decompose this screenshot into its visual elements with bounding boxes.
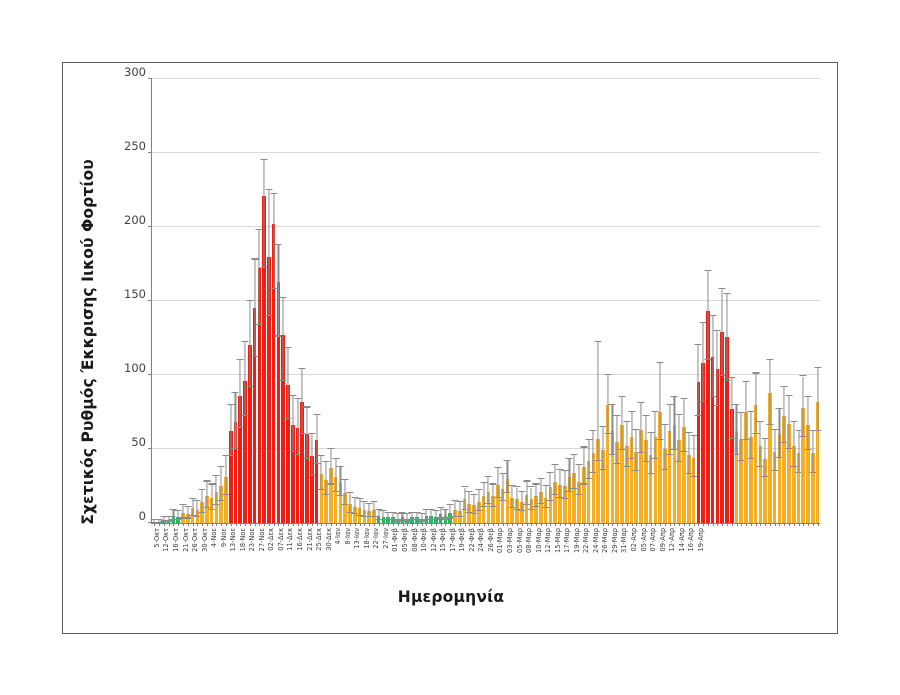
x-tick-mark (159, 523, 160, 526)
x-tick-mark (670, 523, 671, 526)
error-bar (636, 430, 637, 471)
x-tick-mark (550, 523, 551, 526)
error-bar (454, 501, 455, 517)
x-tick-mark (555, 523, 556, 526)
x-tick-mark (355, 523, 356, 526)
x-tick-mark (799, 523, 800, 526)
plot-area: 050100150200250300 5-Οκτ12-Οκτ16-Οκτ21-Ο… (151, 79, 820, 524)
x-tick-label: 30-Οκτ (201, 528, 209, 552)
error-bar (521, 492, 522, 511)
x-tick-mark (565, 523, 566, 526)
x-tick-mark (298, 523, 299, 526)
x-tick-mark (622, 523, 623, 526)
x-tick-label: 23-Νοε (248, 528, 256, 551)
x-tick-label: 26-Μαρ (601, 528, 609, 553)
x-tick-mark (531, 523, 532, 526)
x-tick-mark (612, 523, 613, 526)
error-bar (474, 495, 475, 514)
error-bar (555, 465, 556, 495)
error-bar (311, 434, 312, 475)
x-tick-mark (331, 523, 332, 526)
error-bar (803, 377, 804, 438)
x-tick-mark (441, 523, 442, 526)
x-tick-mark (465, 523, 466, 526)
x-tick-label: 07-Δεκ (277, 528, 285, 551)
x-tick-mark (469, 523, 470, 526)
error-bar (340, 467, 341, 497)
error-bar (712, 316, 713, 397)
x-tick-mark (231, 523, 232, 526)
error-bar (259, 230, 260, 325)
x-tick-mark (813, 523, 814, 526)
error-bar (774, 430, 775, 471)
x-tick-mark (412, 523, 413, 526)
x-tick-mark (818, 523, 819, 526)
error-bar (679, 415, 680, 462)
x-tick-mark (484, 523, 485, 526)
error-bar (192, 499, 193, 515)
x-tick-mark (765, 523, 766, 526)
x-tick-mark (741, 523, 742, 526)
x-tick-mark (379, 523, 380, 526)
x-tick-label: 12-Μαρ (544, 528, 552, 553)
x-tick-label: 05-Φεβ (401, 528, 409, 552)
x-tick-label: 05-Μαρ (516, 528, 524, 553)
error-bar (493, 485, 494, 507)
x-tick-mark (589, 523, 590, 526)
error-bar (268, 190, 269, 316)
x-tick-mark (240, 523, 241, 526)
y-tick-label: 200 (124, 213, 146, 227)
x-tick-mark (751, 523, 752, 526)
error-bar-cap (814, 367, 821, 368)
error-bar (674, 397, 675, 450)
error-bar (583, 448, 584, 485)
x-tick-mark (617, 523, 618, 526)
x-tick-label: 17-Μαρ (563, 528, 571, 553)
x-tick-mark (426, 523, 427, 526)
x-tick-label: 21-Οκτ (182, 528, 190, 552)
x-tick-mark (212, 523, 213, 526)
x-tick-mark (169, 523, 170, 526)
x-tick-mark (770, 523, 771, 526)
x-tick-mark (278, 523, 279, 526)
x-tick-mark (732, 523, 733, 526)
error-bar (703, 323, 704, 401)
x-tick-mark (312, 523, 313, 526)
x-tick-mark (283, 523, 284, 526)
x-tick-label: 18-Νοε (239, 528, 247, 551)
x-tick-mark (598, 523, 599, 526)
x-tick-mark (498, 523, 499, 526)
error-bar (621, 397, 622, 450)
x-tick-label: 5-Οκτ (153, 528, 161, 548)
error-bar (326, 462, 327, 495)
x-tick-mark (570, 523, 571, 526)
y-tick-label: 150 (124, 287, 146, 301)
x-tick-mark (393, 523, 394, 526)
x-tick-mark (512, 523, 513, 526)
x-tick-label: 27-Ιαν (382, 528, 390, 549)
x-tick-label: 29-Μαρ (611, 528, 619, 553)
x-tick-mark (507, 523, 508, 526)
x-tick-label: 19-Φεβ (458, 528, 466, 552)
x-tick-mark (274, 523, 275, 526)
x-tick-mark (789, 523, 790, 526)
error-bar (798, 431, 799, 472)
x-tick-mark (708, 523, 709, 526)
error-bar (278, 245, 279, 337)
x-tick-label: 21-Δεκ (306, 528, 314, 551)
error-bar (626, 422, 627, 466)
x-tick-label: 12-Φεβ (430, 528, 438, 552)
error-bar (373, 502, 374, 517)
x-tick-label: 25-Δεκ (315, 528, 323, 551)
x-tick-mark (255, 523, 256, 526)
x-tick-mark (245, 523, 246, 526)
error-bar (574, 455, 575, 489)
error-bar (765, 439, 766, 477)
error-bar (564, 471, 565, 499)
x-tick-label: 09-Απρ (659, 528, 667, 551)
x-tick-mark (737, 523, 738, 526)
x-tick-mark (302, 523, 303, 526)
x-tick-label: 31-Μαρ (620, 528, 628, 553)
error-bar (726, 294, 727, 381)
x-tick-mark (593, 523, 594, 526)
x-tick-label: 30-Δεκ (325, 528, 333, 551)
error-bar (469, 492, 470, 513)
error-bar (364, 502, 365, 517)
x-tick-mark (503, 523, 504, 526)
x-tick-mark (436, 523, 437, 526)
error-bar (502, 474, 503, 501)
error-bar (559, 470, 560, 498)
x-tick-label: 15-Μαρ (554, 528, 562, 553)
y-tick-label: 250 (124, 139, 146, 153)
x-tick-mark (808, 523, 809, 526)
error-bar (598, 342, 599, 460)
error-bar (750, 412, 751, 459)
x-tick-label: 22-Ιαν (372, 528, 380, 549)
x-tick-mark (388, 523, 389, 526)
error-bar (273, 194, 274, 289)
x-tick-mark (345, 523, 346, 526)
x-tick-mark (679, 523, 680, 526)
x-tick-mark (445, 523, 446, 526)
x-tick-label: 07-Απρ (649, 528, 657, 551)
x-tick-mark (450, 523, 451, 526)
error-bar (264, 160, 265, 268)
error-bar (688, 433, 689, 474)
error-bar (793, 422, 794, 466)
x-tick-mark (460, 523, 461, 526)
x-tick-label: 02-Δεκ (267, 528, 275, 551)
x-tick-mark (288, 523, 289, 526)
x-tick-mark (760, 523, 761, 526)
error-bar (641, 403, 642, 453)
x-tick-mark (794, 523, 795, 526)
error-bar-cap (814, 430, 821, 431)
x-tick-mark (713, 523, 714, 526)
x-tick-mark (717, 523, 718, 526)
error-bar (817, 368, 818, 432)
error-bar (769, 360, 770, 425)
x-tick-mark (474, 523, 475, 526)
x-tick-mark (746, 523, 747, 526)
x-tick-mark (560, 523, 561, 526)
x-tick-mark (756, 523, 757, 526)
error-bar (578, 465, 579, 495)
x-tick-label: 27-Νοε (258, 528, 266, 551)
bar-series (152, 79, 820, 523)
x-tick-label: 26-Οκτ (191, 528, 199, 552)
y-tick-label: 50 (131, 435, 146, 449)
x-tick-mark (665, 523, 666, 526)
x-tick-mark (183, 523, 184, 526)
error-bar (254, 260, 255, 358)
x-tick-mark (293, 523, 294, 526)
x-tick-mark (340, 523, 341, 526)
x-tick-label: 10-Φεβ (420, 528, 428, 552)
x-tick-label: 22-Μαρ (582, 528, 590, 553)
error-bar (459, 502, 460, 517)
x-tick-label: 11-Δεκ (286, 528, 294, 551)
x-tick-label: 16-Δεκ (296, 528, 304, 551)
x-tick-label: 17-Φεβ (449, 528, 457, 552)
x-tick-label: 08-Μαρ (525, 528, 533, 553)
error-bar (211, 485, 212, 510)
x-tick-label: 13-Ιαν (353, 528, 361, 549)
x-tick-mark (193, 523, 194, 526)
x-tick-mark (350, 523, 351, 526)
y-tick-label: 300 (124, 65, 146, 79)
x-tick-mark (541, 523, 542, 526)
x-tick-mark (632, 523, 633, 526)
x-tick-label: 05-Απρ (640, 528, 648, 551)
y-axis-title: Σχετικός Ρυθμός Έκκρισης Ιικού Φορτίου (79, 102, 97, 582)
x-tick-mark (364, 523, 365, 526)
x-tick-mark (608, 523, 609, 526)
error-bar (330, 449, 331, 485)
x-tick-mark (383, 523, 384, 526)
error-bar (683, 399, 684, 452)
error-bar (540, 479, 541, 504)
x-tick-mark (655, 523, 656, 526)
error-bar (664, 425, 665, 469)
error-bar (283, 298, 284, 381)
x-tick-mark (250, 523, 251, 526)
error-bar (225, 456, 226, 494)
x-axis-title: Ημερομηνία (63, 588, 839, 606)
x-tick-label: 9-Νοε (220, 528, 228, 547)
error-bar (722, 289, 723, 376)
x-tick-mark (236, 523, 237, 526)
x-tick-mark (722, 523, 723, 526)
x-tick-mark (488, 523, 489, 526)
error-bar (550, 473, 551, 501)
error-bar (655, 412, 656, 459)
y-tick-label: 100 (124, 361, 146, 375)
x-tick-mark (694, 523, 695, 526)
x-tick-mark (264, 523, 265, 526)
x-tick-mark (627, 523, 628, 526)
x-tick-mark (646, 523, 647, 526)
x-tick-label: 4-Ιαν (334, 528, 342, 545)
x-tick-label: 14-Απρ (678, 528, 686, 551)
error-bar (741, 413, 742, 460)
error-bar (202, 490, 203, 512)
x-tick-mark (307, 523, 308, 526)
x-tick-mark (493, 523, 494, 526)
x-tick-mark (603, 523, 604, 526)
x-tick-mark (784, 523, 785, 526)
x-tick-mark (221, 523, 222, 526)
x-tick-mark (216, 523, 217, 526)
error-bar (631, 412, 632, 459)
x-tick-mark (527, 523, 528, 526)
error-bar (812, 431, 813, 472)
error-bar (292, 396, 293, 452)
error-bar (316, 415, 317, 464)
x-tick-label: 13-Νοε (229, 528, 237, 551)
error-bar (808, 397, 809, 450)
error-bar (507, 461, 508, 494)
error-bar (755, 374, 756, 435)
x-tick-label: 16-Οκτ (172, 528, 180, 552)
x-tick-label: 24-Φεβ (477, 528, 485, 552)
x-tick-mark (326, 523, 327, 526)
bar-slot[interactable] (815, 79, 820, 523)
x-tick-mark (584, 523, 585, 526)
x-tick-mark (259, 523, 260, 526)
error-bar (593, 431, 594, 472)
x-tick-mark (517, 523, 518, 526)
x-tick-mark (479, 523, 480, 526)
error-bar (197, 501, 198, 517)
x-tick-mark (579, 523, 580, 526)
y-tick-label: 0 (139, 509, 146, 523)
x-tick-mark (207, 523, 208, 526)
x-tick-mark (407, 523, 408, 526)
x-tick-mark (641, 523, 642, 526)
x-tick-label: 10-Μαρ (535, 528, 543, 553)
error-bar (221, 467, 222, 501)
x-tick-label: 12-Απρ (668, 528, 676, 551)
x-tick-mark (202, 523, 203, 526)
x-tick-label: 12-Οκτ (162, 528, 170, 552)
error-bar (335, 459, 336, 492)
x-tick-mark (674, 523, 675, 526)
error-bar (244, 342, 245, 416)
x-tick-mark (431, 523, 432, 526)
x-tick-label: 24-Μαρ (592, 528, 600, 553)
x-tick-mark (684, 523, 685, 526)
x-tick-mark (522, 523, 523, 526)
x-tick-mark (803, 523, 804, 526)
screenshot-root: Σχετικός Ρυθμός Έκκρισης Ιικού Φορτίου 0… (0, 0, 900, 695)
x-tick-label: 22-Φεβ (468, 528, 476, 552)
x-tick-label: 4-Νοε (210, 528, 218, 547)
x-tick-mark (403, 523, 404, 526)
error-bar (297, 399, 298, 455)
x-tick-label: 26-Φεβ (487, 528, 495, 552)
error-bar (478, 490, 479, 511)
x-tick-mark (369, 523, 370, 526)
x-tick-mark (703, 523, 704, 526)
error-bar (717, 331, 718, 406)
x-tick-label: 18-Ιαν (363, 528, 371, 549)
error-bar (235, 393, 236, 449)
x-tick-mark (574, 523, 575, 526)
x-tick-mark (226, 523, 227, 526)
x-tick-mark (536, 523, 537, 526)
x-tick-label: 02-Απρ (630, 528, 638, 551)
error-bar (302, 369, 303, 434)
x-tick-label: 15-Φεβ (439, 528, 447, 552)
x-tick-mark (417, 523, 418, 526)
x-tick-mark (636, 523, 637, 526)
error-bar (660, 363, 661, 440)
error-bar (698, 345, 699, 416)
error-bar (731, 378, 732, 439)
error-bar (240, 360, 241, 428)
x-tick-mark (321, 523, 322, 526)
error-bar (779, 409, 780, 458)
x-tick-mark (779, 523, 780, 526)
x-tick-mark (546, 523, 547, 526)
error-bar (287, 348, 288, 419)
error-bar (545, 486, 546, 508)
x-tick-label: 19-Απρ (697, 528, 705, 551)
x-tick-mark (188, 523, 189, 526)
x-tick-mark (154, 523, 155, 526)
chart-frame: Σχετικός Ρυθμός Έκκρισης Ιικού Φορτίου 0… (62, 62, 838, 634)
error-bar (612, 405, 613, 455)
x-tick-mark (422, 523, 423, 526)
error-bar (645, 416, 646, 462)
error-bar (617, 416, 618, 463)
x-tick-label: 19-Μαρ (573, 528, 581, 553)
error-bar (488, 477, 489, 504)
error-bar (588, 440, 589, 478)
x-tick-mark (317, 523, 318, 526)
error-bar (669, 405, 670, 455)
error-bar (693, 436, 694, 477)
error-bar (249, 301, 250, 387)
x-tick-mark (455, 523, 456, 526)
x-tick-mark (651, 523, 652, 526)
x-tick-label: 8-Ιαν (344, 528, 352, 545)
error-bar (512, 486, 513, 508)
error-bar (526, 482, 527, 506)
x-tick-mark (269, 523, 270, 526)
x-tick-mark (689, 523, 690, 526)
x-tick-mark (164, 523, 165, 526)
x-tick-mark (775, 523, 776, 526)
plot-inner: 050100150200250300 5-Οκτ12-Οκτ16-Οκτ21-Ο… (152, 79, 820, 523)
x-tick-label: 01-Μαρ (496, 528, 504, 553)
x-tick-mark (178, 523, 179, 526)
x-tick-mark (360, 523, 361, 526)
x-tick-label: 01-Φεβ (391, 528, 399, 552)
error-bar (354, 498, 355, 514)
x-tick-mark (398, 523, 399, 526)
error-bar (607, 375, 608, 434)
x-tick-mark (374, 523, 375, 526)
error-bar (760, 422, 761, 466)
x-tick-mark (727, 523, 728, 526)
